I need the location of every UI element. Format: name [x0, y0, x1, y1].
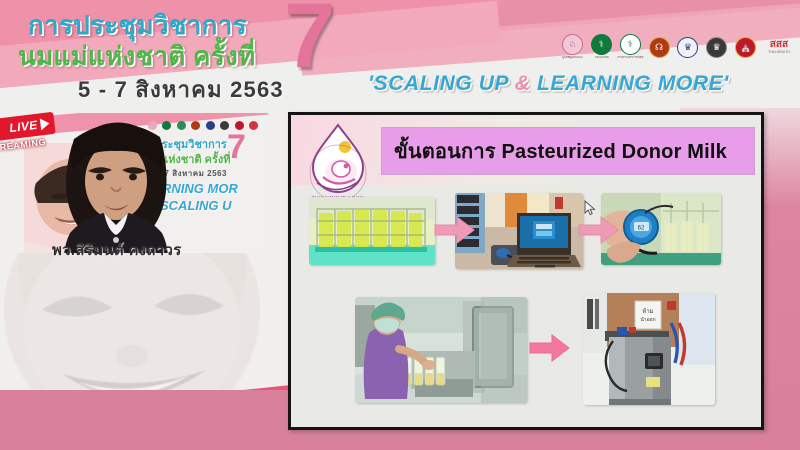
live-label: LIVE: [9, 118, 39, 135]
thai-human-milk-bank-logo: THAI HUMAN MILK BANK: [301, 121, 375, 201]
slide-title-banner: ขั้นตอนการ Pasteurized Donor Milk: [381, 127, 755, 175]
photo-nurse-loading-pasteurizer: [355, 297, 527, 403]
conference-header: การประชุมวิชาการ นมแม่แห่งชาติ ครั้งที่ …: [0, 0, 800, 108]
video-frame: การประชุมวิชาการ นมแม่แห่งชาติ ครั้งที่ …: [0, 0, 800, 450]
flow-arrow-3: [529, 333, 571, 363]
nursing-council-logo: ♛: [675, 30, 700, 64]
conference-title-line2: นมแม่แห่งชาติ ครั้งที่: [18, 36, 308, 77]
presentation-slide: THAI HUMAN MILK BANK ขั้นตอนการ Pasteuri…: [288, 112, 764, 430]
conference-tagline: 'SCALING UP & LEARNING MORE': [368, 72, 729, 96]
red-emblem-logo: ⛪: [733, 30, 758, 64]
conference-date: 5 - 7 สิงหาคม 2563: [78, 72, 284, 107]
speaker-name: พว.สิริมนต์ คงถาวร: [52, 238, 182, 262]
live-pill: LIVE: [0, 112, 56, 143]
mouse-cursor: [584, 200, 596, 216]
play-icon: [40, 117, 50, 130]
speaker-person: [54, 113, 178, 253]
photo-pasteurizer-machine: ห้าม นำออก: [583, 293, 715, 405]
flow-arrow-2: [578, 215, 620, 245]
thaihealth-logo: สสส THAI HEALTH: [762, 30, 796, 64]
edition-number: 7: [284, 0, 335, 82]
royal-college-logo: ☊: [647, 30, 672, 64]
svg-text:ห้าม: ห้าม: [642, 308, 653, 315]
pediatric-society-logo: ♛: [704, 30, 729, 64]
inset-edition-number: 7: [227, 130, 246, 164]
tagline-ampersand: &: [515, 72, 531, 95]
flow-arrow-1: [434, 215, 476, 245]
slide-title-text: ขั้นตอนการ Pasteurized Donor Milk: [394, 135, 727, 167]
svg-text:นำออก: นำออก: [640, 317, 655, 323]
svg-text:62: 62: [638, 226, 645, 232]
ministry-health-logo: ⚕ กรมอนามัย: [589, 30, 614, 64]
sponsor-logo-row: ♘ มูลนิธิศูนย์นมแม่ ⚕ กรมอนามัย ⚕ กระทรว…: [560, 27, 796, 67]
medical-dept-logo: ⚕ กระทรวงสาธารณสุข: [618, 30, 643, 64]
tagline-part1: 'SCALING UP: [368, 72, 515, 95]
live-streaming-badge: LIVE STREAMING: [0, 112, 58, 164]
tagline-part2: LEARNING MORE': [531, 72, 729, 95]
photo-milk-bottle-racks: [309, 197, 435, 265]
royal-patronage-logo: ♘ มูลนิธิศูนย์นมแม่: [560, 30, 585, 64]
